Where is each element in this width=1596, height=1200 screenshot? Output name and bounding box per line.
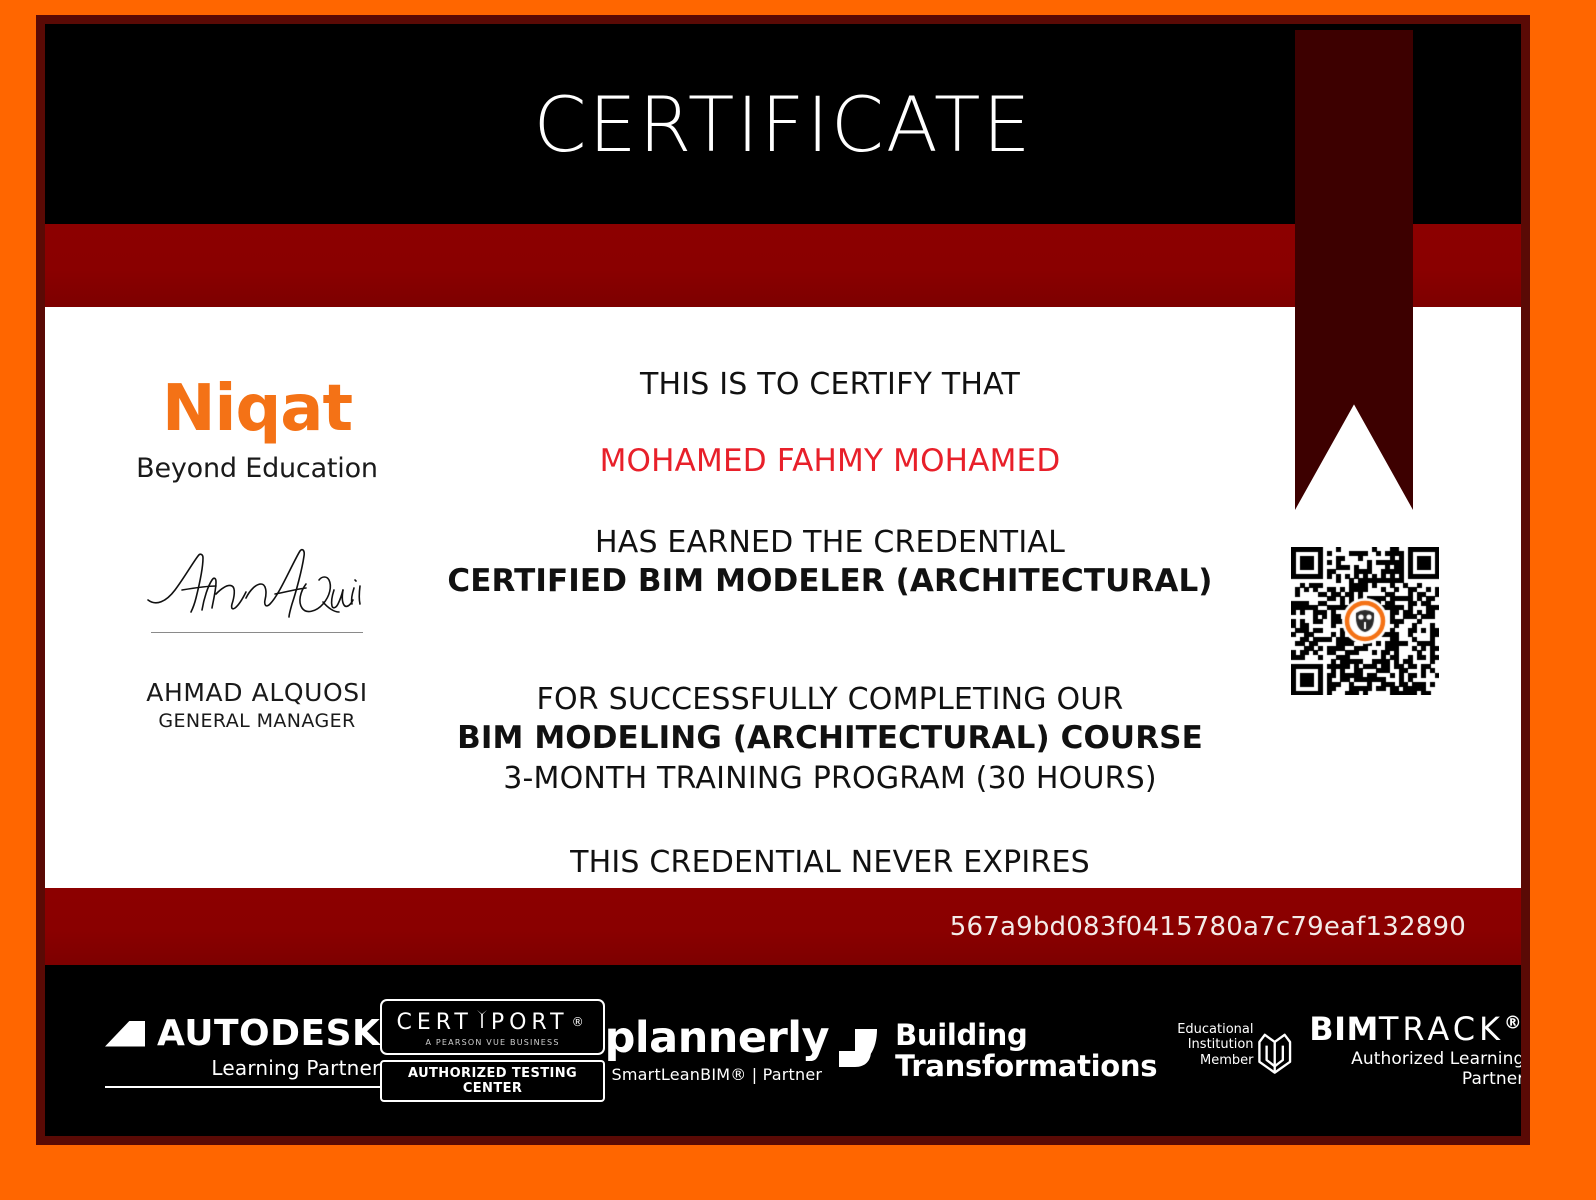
certiport-divider-icon — [476, 1009, 488, 1035]
qr-canvas — [1291, 547, 1439, 695]
spacer — [375, 479, 1285, 523]
spacer — [375, 602, 1285, 646]
bim-track-lockup: BIMTRACK® Authorized Learning Partner — [1254, 1013, 1521, 1089]
completion-lead: FOR SUCCESSFULLY COMPLETING OUR — [375, 680, 1285, 720]
certiport-frame: CERT PORT ® A PEARSON VUE BUSINESS — [380, 999, 604, 1055]
plannerly-sublabel: SmartLeanBIM® | Partner — [605, 1065, 829, 1084]
credential-text-column: THIS IS TO CERTIFY THAT MOHAMED FAHMY MO… — [375, 365, 1285, 882]
certiport-tagline: A PEARSON VUE BUSINESS — [396, 1038, 588, 1047]
partner-logo-autodesk: AUTODESK Learning Partner — [105, 1013, 380, 1088]
bim-registered: ® — [1504, 1013, 1521, 1033]
building-transformations-badge: Educational Institution Member — [1177, 1022, 1253, 1068]
intro-line: THIS IS TO CERTIFY THAT — [375, 365, 1285, 405]
niqat-tagline: Beyond Education — [107, 453, 407, 484]
certiport-atc-label: AUTHORIZED TESTING CENTER — [380, 1060, 604, 1102]
partner-logo-certiport: CERT PORT ® A PEARSON VUE BUSINESS AUTHO… — [380, 999, 604, 1102]
credential-name: CERTIFIED BIM MODELER (ARCHITECTURAL) — [375, 562, 1285, 602]
verification-qr-code[interactable] — [1291, 547, 1439, 695]
bim-word-bold: BIM — [1309, 1010, 1379, 1048]
certificate: CERTIFICATE Niqat Beyond Education — [0, 0, 1596, 1200]
partner-logo-plannerly: plannerly SmartLeanBIM® | Partner — [605, 1017, 829, 1084]
bt-badge-line-3: Member — [1177, 1053, 1253, 1068]
bt-line-1: Building — [895, 1020, 1157, 1050]
bt-line-2: Transformations — [895, 1051, 1157, 1081]
certiport-word-right: PORT — [491, 1010, 569, 1035]
bim-track-wordmark: BIMTRACK® Authorized Learning Partner — [1307, 1013, 1521, 1089]
expiry-line: THIS CREDENTIAL NEVER EXPIRES — [375, 843, 1285, 883]
bim-track-word: BIMTRACK® — [1307, 1013, 1521, 1045]
bt-badge-line-1: Educational — [1177, 1022, 1253, 1037]
program-detail: 3-MONTH TRAINING PROGRAM (30 HOURS) — [375, 759, 1285, 799]
recipient-name: MOHAMED FAHMY MOHAMED — [375, 443, 1285, 479]
signatory-name: AHMAD ALQUOSI — [107, 678, 407, 707]
autodesk-rule — [105, 1086, 380, 1088]
partner-logo-bim-track: BIMTRACK® Authorized Learning Partner — [1254, 1013, 1521, 1089]
spacer — [375, 646, 1285, 680]
building-transformations-icon — [829, 1025, 881, 1077]
bt-badge-line-2: Institution — [1177, 1037, 1253, 1052]
signature-icon — [142, 542, 372, 628]
credential-id: 567a9bd083f0415780a7c79eaf132890 — [950, 888, 1466, 965]
signatory-role: GENERAL MANAGER — [107, 710, 407, 732]
signature-rule — [151, 632, 363, 633]
certificate-card: CERTIFICATE Niqat Beyond Education — [45, 24, 1521, 1136]
issuer-column: Niqat Beyond Education — [107, 377, 407, 732]
bim-word-thin: TRACK — [1379, 1010, 1504, 1048]
niqat-logo: Niqat — [107, 377, 407, 441]
certiport-crown-icon — [476, 1009, 488, 1029]
certiport-wordmark: CERT PORT ® — [396, 1009, 588, 1035]
partner-logo-building-transformations: Building Transformations Educational Ins… — [829, 1020, 1253, 1081]
bim-track-icon — [1254, 1025, 1295, 1077]
autodesk-sublabel: Learning Partner — [105, 1056, 380, 1080]
spacer — [375, 799, 1285, 843]
building-transformations-lockup: Building Transformations Educational Ins… — [829, 1020, 1253, 1081]
course-name: BIM MODELING (ARCHITECTURAL) COURSE — [375, 719, 1285, 759]
autodesk-icon — [105, 1021, 145, 1047]
autodesk-lockup: AUTODESK — [105, 1013, 380, 1054]
certiport-word-left: CERT — [396, 1010, 472, 1035]
partner-logos: AUTODESK Learning Partner CERT — [45, 965, 1521, 1136]
plannerly-wordmark: plannerly — [605, 1017, 829, 1060]
bim-track-sublabel: Authorized Learning Partner — [1307, 1049, 1521, 1089]
credential-lead: HAS EARNED THE CREDENTIAL — [375, 523, 1285, 563]
autodesk-wordmark: AUTODESK — [157, 1013, 380, 1054]
certiport-registered: ® — [572, 1015, 589, 1029]
building-transformations-wordmark: Building Transformations — [895, 1020, 1157, 1081]
signature-block — [107, 542, 407, 632]
